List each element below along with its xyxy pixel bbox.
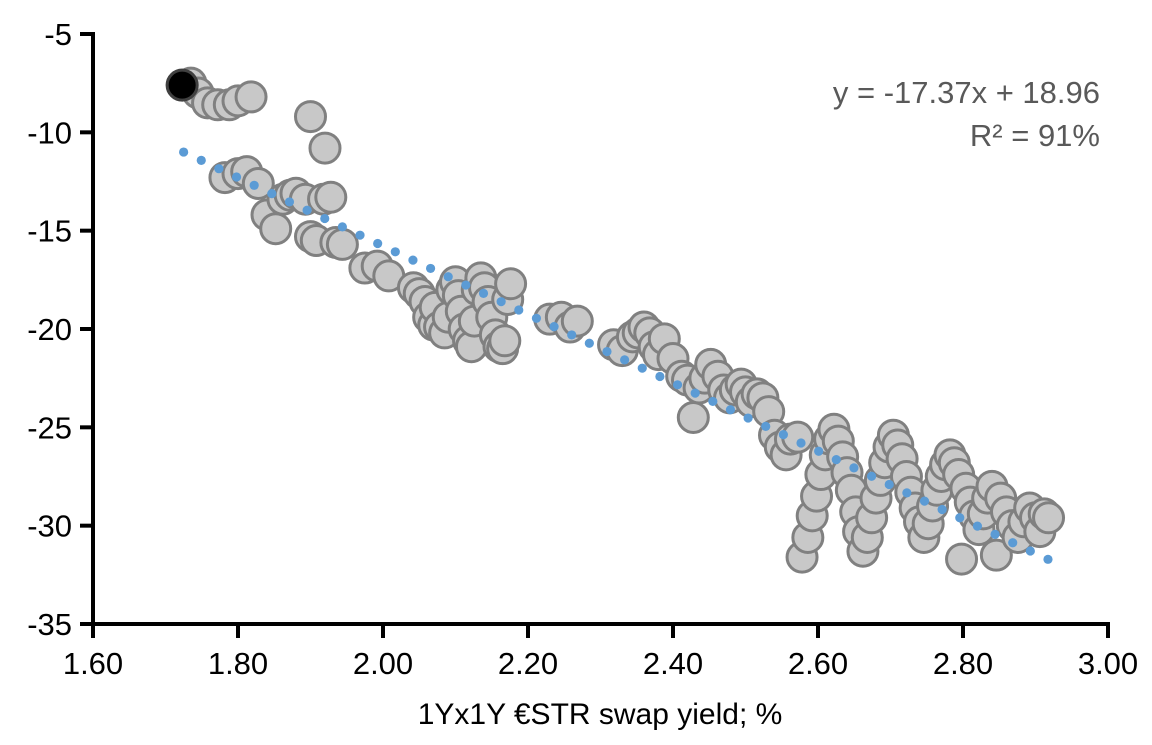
y-axis-tick-labels: -5-10-15-20-25-30-35	[27, 17, 72, 642]
trendline-dot	[1043, 555, 1052, 564]
scatter-point	[490, 326, 520, 356]
trendline-dot	[955, 513, 964, 522]
trendline-equation-label: y = -17.37x + 18.96	[833, 75, 1100, 110]
trendline-dot	[691, 389, 700, 398]
y-tick-label: -35	[27, 607, 72, 642]
trendline-dot	[444, 272, 453, 281]
trendline-dot	[620, 355, 629, 364]
r-squared-label: R² = 91%	[970, 118, 1100, 153]
scatter-point	[947, 544, 977, 574]
trendline-dot	[373, 239, 382, 248]
x-tick-label: 2.60	[788, 646, 848, 681]
trendline-dot	[338, 222, 347, 231]
trendline-dot	[391, 247, 400, 256]
trendline-dot	[285, 197, 294, 206]
scatter-point	[1034, 503, 1064, 533]
x-tick-label: 3.00	[1078, 646, 1138, 681]
trendline-dot	[197, 156, 206, 165]
trendline-dot	[902, 488, 911, 497]
scatter-point	[327, 229, 357, 259]
trendline-dot	[355, 231, 364, 240]
trendline-dot	[514, 305, 523, 314]
trendline-dot	[796, 438, 805, 447]
y-axis: -5-10-15-20-25-30-35	[27, 17, 93, 642]
scatter-points-layer	[167, 68, 1063, 574]
trendline-dot	[990, 530, 999, 539]
scatter-point	[261, 214, 291, 244]
trendline-dot	[761, 422, 770, 431]
highlight-point-layer	[167, 70, 197, 100]
trendline-dot	[814, 447, 823, 456]
trendline-dot	[303, 206, 312, 215]
trendline-dot	[708, 397, 717, 406]
trendline-dot	[549, 322, 558, 331]
trendline-dot	[867, 472, 876, 481]
x-tick-label: 1.80	[208, 646, 268, 681]
trendline-dot	[832, 455, 841, 464]
trendline-dot	[532, 314, 541, 323]
x-axis-title: 1Yx1Y €STR swap yield; %	[418, 698, 783, 731]
trendline-dot	[214, 164, 223, 173]
trendline-dot	[655, 372, 664, 381]
y-tick-label: -10	[27, 115, 72, 150]
x-tick-label: 1.60	[63, 646, 123, 681]
highlighted-latest-point	[167, 70, 197, 100]
trendline-dot	[744, 413, 753, 422]
trendline-dot	[179, 147, 188, 156]
trendline-dot	[320, 214, 329, 223]
x-axis-ticks	[93, 624, 1108, 638]
y-tick-label: -25	[27, 410, 72, 445]
trendline-dot	[267, 189, 276, 198]
plot-canvas: -5-10-15-20-25-30-35 1.601.802.002.202.4…	[0, 0, 1152, 745]
trendline-dot	[885, 480, 894, 489]
y-tick-label: -20	[27, 312, 72, 347]
trendline-dot	[938, 505, 947, 514]
y-tick-label: -30	[27, 509, 72, 544]
scatter-point	[562, 306, 592, 336]
trendline-dot	[585, 339, 594, 348]
x-axis-tick-labels: 1.601.802.002.202.402.602.803.00	[63, 646, 1138, 681]
scatter-point	[678, 403, 708, 433]
trendline-dot	[567, 330, 576, 339]
x-axis: 1.601.802.002.202.402.602.803.00	[63, 624, 1138, 681]
trendline-dot	[461, 280, 470, 289]
x-tick-label: 2.40	[643, 646, 703, 681]
scatter-chart-figure: -5-10-15-20-25-30-35 1.601.802.002.202.4…	[0, 0, 1152, 745]
x-tick-label: 2.20	[498, 646, 558, 681]
trendline-dot	[426, 264, 435, 273]
trendline-dot	[849, 463, 858, 472]
x-tick-label: 2.80	[933, 646, 993, 681]
trendline-dot	[497, 297, 506, 306]
trendline-dot	[673, 380, 682, 389]
trendline-dot	[1026, 546, 1035, 555]
trendline-dot	[920, 497, 929, 506]
scatter-point	[310, 133, 340, 163]
trendline-dot	[973, 521, 982, 530]
scatter-point	[316, 182, 346, 212]
scatter-point	[236, 82, 266, 112]
scatter-point	[296, 102, 326, 132]
trendline-dot	[602, 347, 611, 356]
trendline-dot	[408, 256, 417, 265]
trendline-dot	[726, 405, 735, 414]
y-tick-label: -15	[27, 214, 72, 249]
trendline-dot	[232, 172, 241, 181]
trendline-dot	[779, 430, 788, 439]
trendline-dot	[250, 181, 259, 190]
trendline-dot	[479, 289, 488, 298]
trendline-dot	[1008, 538, 1017, 547]
scatter-point	[496, 269, 526, 299]
x-tick-label: 2.00	[353, 646, 413, 681]
trendline-dot	[638, 364, 647, 373]
y-tick-label: -5	[44, 17, 72, 52]
